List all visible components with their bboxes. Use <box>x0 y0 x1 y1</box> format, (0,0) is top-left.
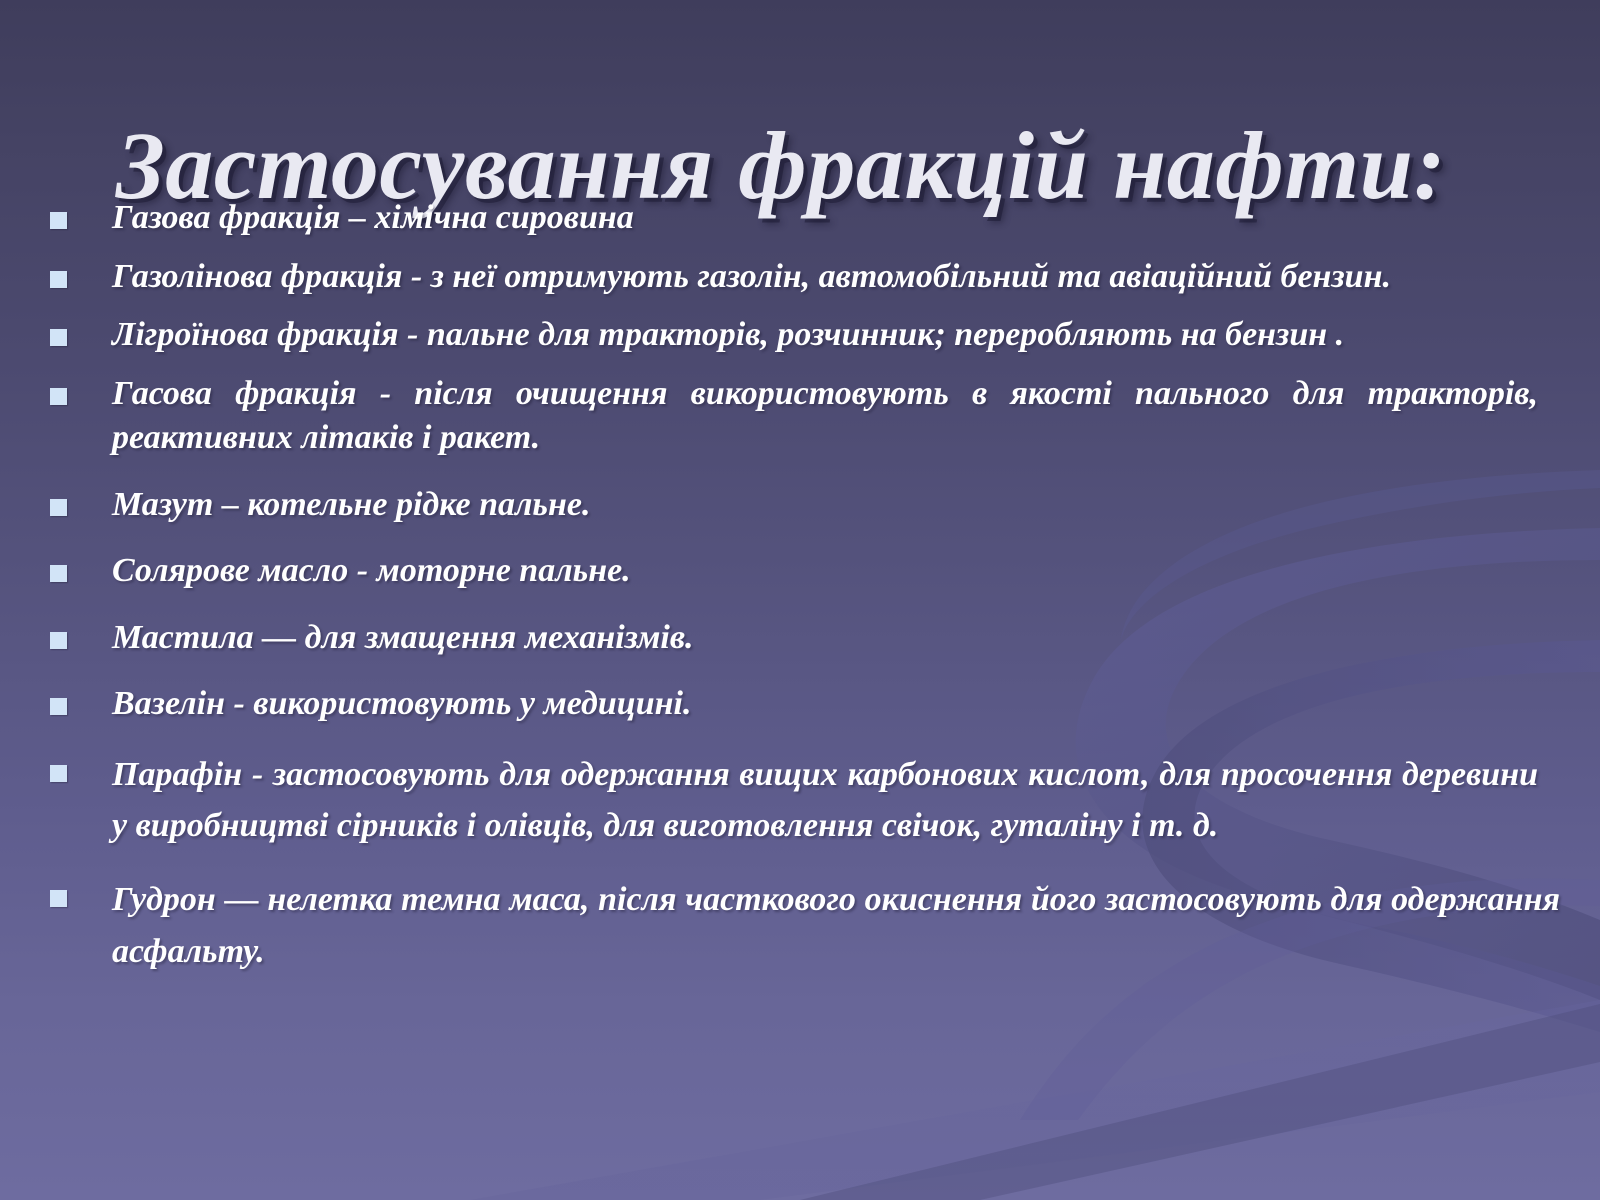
list-item[interactable]: Мазут – котельне рідке пальне. <box>0 483 1600 528</box>
list-item[interactable]: Мастила — для змащення механізмів. <box>0 616 1600 661</box>
list-item[interactable]: Солярове масло - моторне пальне. <box>0 549 1600 594</box>
square-bullet-icon <box>50 698 67 715</box>
list-item-label: Лігроїнова фракція - пальне для тракторі… <box>112 313 1538 358</box>
square-bullet-icon <box>50 632 67 649</box>
list-item[interactable]: Газолінова фракція - з неї отримують газ… <box>0 255 1600 300</box>
list-item-label: Парафін - застосовують для одержання вищ… <box>112 749 1538 852</box>
list-item[interactable]: Гасова фракція - після очищення використ… <box>0 372 1600 461</box>
square-bullet-icon <box>50 890 67 907</box>
list-item-label: Мастила — для змащення механізмів. <box>112 616 1560 661</box>
square-bullet-icon <box>50 765 67 782</box>
list-item[interactable]: Вазелін - використовують у медицині. <box>0 682 1600 727</box>
square-bullet-icon <box>50 499 67 516</box>
fraction-uses-list: Газова фракція – хімічна сировина Газолі… <box>0 196 1600 977</box>
list-item[interactable]: Гудрон — нелетка темна маса, після частк… <box>0 874 1600 977</box>
list-item-label: Мазут – котельне рідке пальне. <box>112 483 1560 528</box>
list-item[interactable]: Парафін - застосовують для одержання вищ… <box>0 749 1600 852</box>
list-item-label: Вазелін - використовують у медицині. <box>112 682 1560 727</box>
square-bullet-icon <box>50 565 67 582</box>
square-bullet-icon <box>50 329 67 346</box>
list-item-label: Газолінова фракція - з неї отримують газ… <box>112 255 1538 300</box>
list-item-label: Гудрон — нелетка темна маса, після частк… <box>112 874 1560 977</box>
presentation-slide: Застосування фракцій нафти: Газова фракц… <box>0 0 1600 1200</box>
list-item-label: Солярове масло - моторне пальне. <box>112 549 1560 594</box>
list-item[interactable]: Лігроїнова фракція - пальне для тракторі… <box>0 313 1600 358</box>
list-item-label: Газова фракція – хімічна сировина <box>112 196 1560 241</box>
square-bullet-icon <box>50 388 67 405</box>
slide-body: Газова фракція – хімічна сировина Газолі… <box>0 196 1600 991</box>
list-item[interactable]: Газова фракція – хімічна сировина <box>0 196 1600 241</box>
square-bullet-icon <box>50 271 67 288</box>
square-bullet-icon <box>50 212 67 229</box>
list-item-label: Гасова фракція - після очищення використ… <box>112 372 1538 461</box>
